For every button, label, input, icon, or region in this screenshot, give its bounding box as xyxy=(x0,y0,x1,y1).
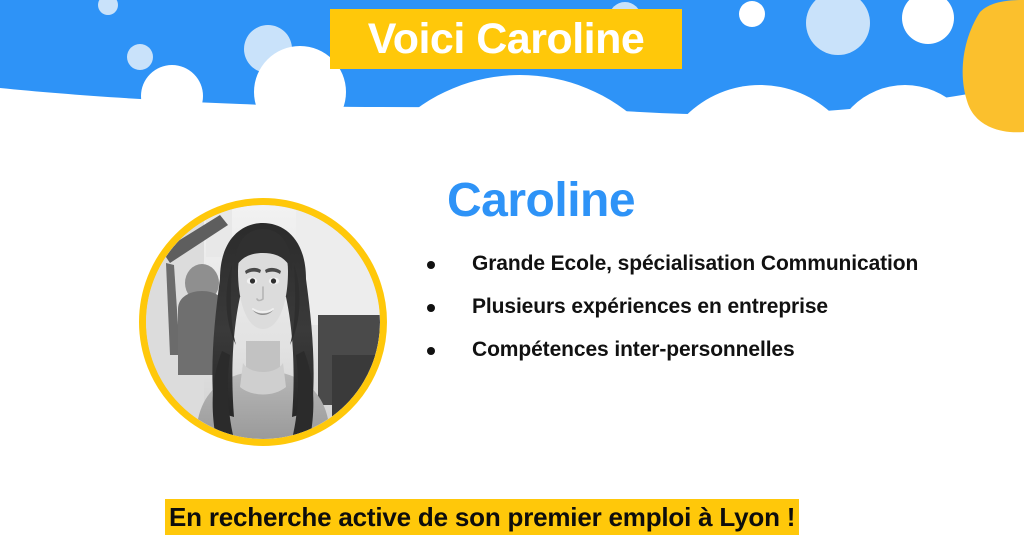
portrait-photo xyxy=(146,205,380,439)
highlights-list: Grande Ecole, spécialisation Communicati… xyxy=(427,252,997,381)
list-item: Grande Ecole, spécialisation Communicati… xyxy=(427,252,997,276)
list-item-label: Compétences inter-personnelles xyxy=(472,338,795,362)
bullet-dot-icon xyxy=(427,347,435,355)
footer-banner: En recherche active de son premier emplo… xyxy=(165,499,799,535)
page-title: Voici Caroline xyxy=(368,18,645,61)
list-item: Compétences inter-personnelles xyxy=(427,338,997,362)
slide-canvas: Voici Caroline xyxy=(0,0,1024,539)
bullet-dot-icon xyxy=(427,304,435,312)
list-item: Plusieurs expériences en entreprise xyxy=(427,295,997,319)
list-item-label: Plusieurs expériences en entreprise xyxy=(472,295,828,319)
yellow-corner-blob xyxy=(963,0,1024,132)
portrait-frame xyxy=(139,198,387,446)
list-item-label: Grande Ecole, spécialisation Communicati… xyxy=(472,252,918,276)
person-name: Caroline xyxy=(447,172,635,230)
title-banner: Voici Caroline xyxy=(330,9,682,69)
bullet-dot-icon xyxy=(427,261,435,269)
footer-status-text: En recherche active de son premier emplo… xyxy=(169,504,795,530)
